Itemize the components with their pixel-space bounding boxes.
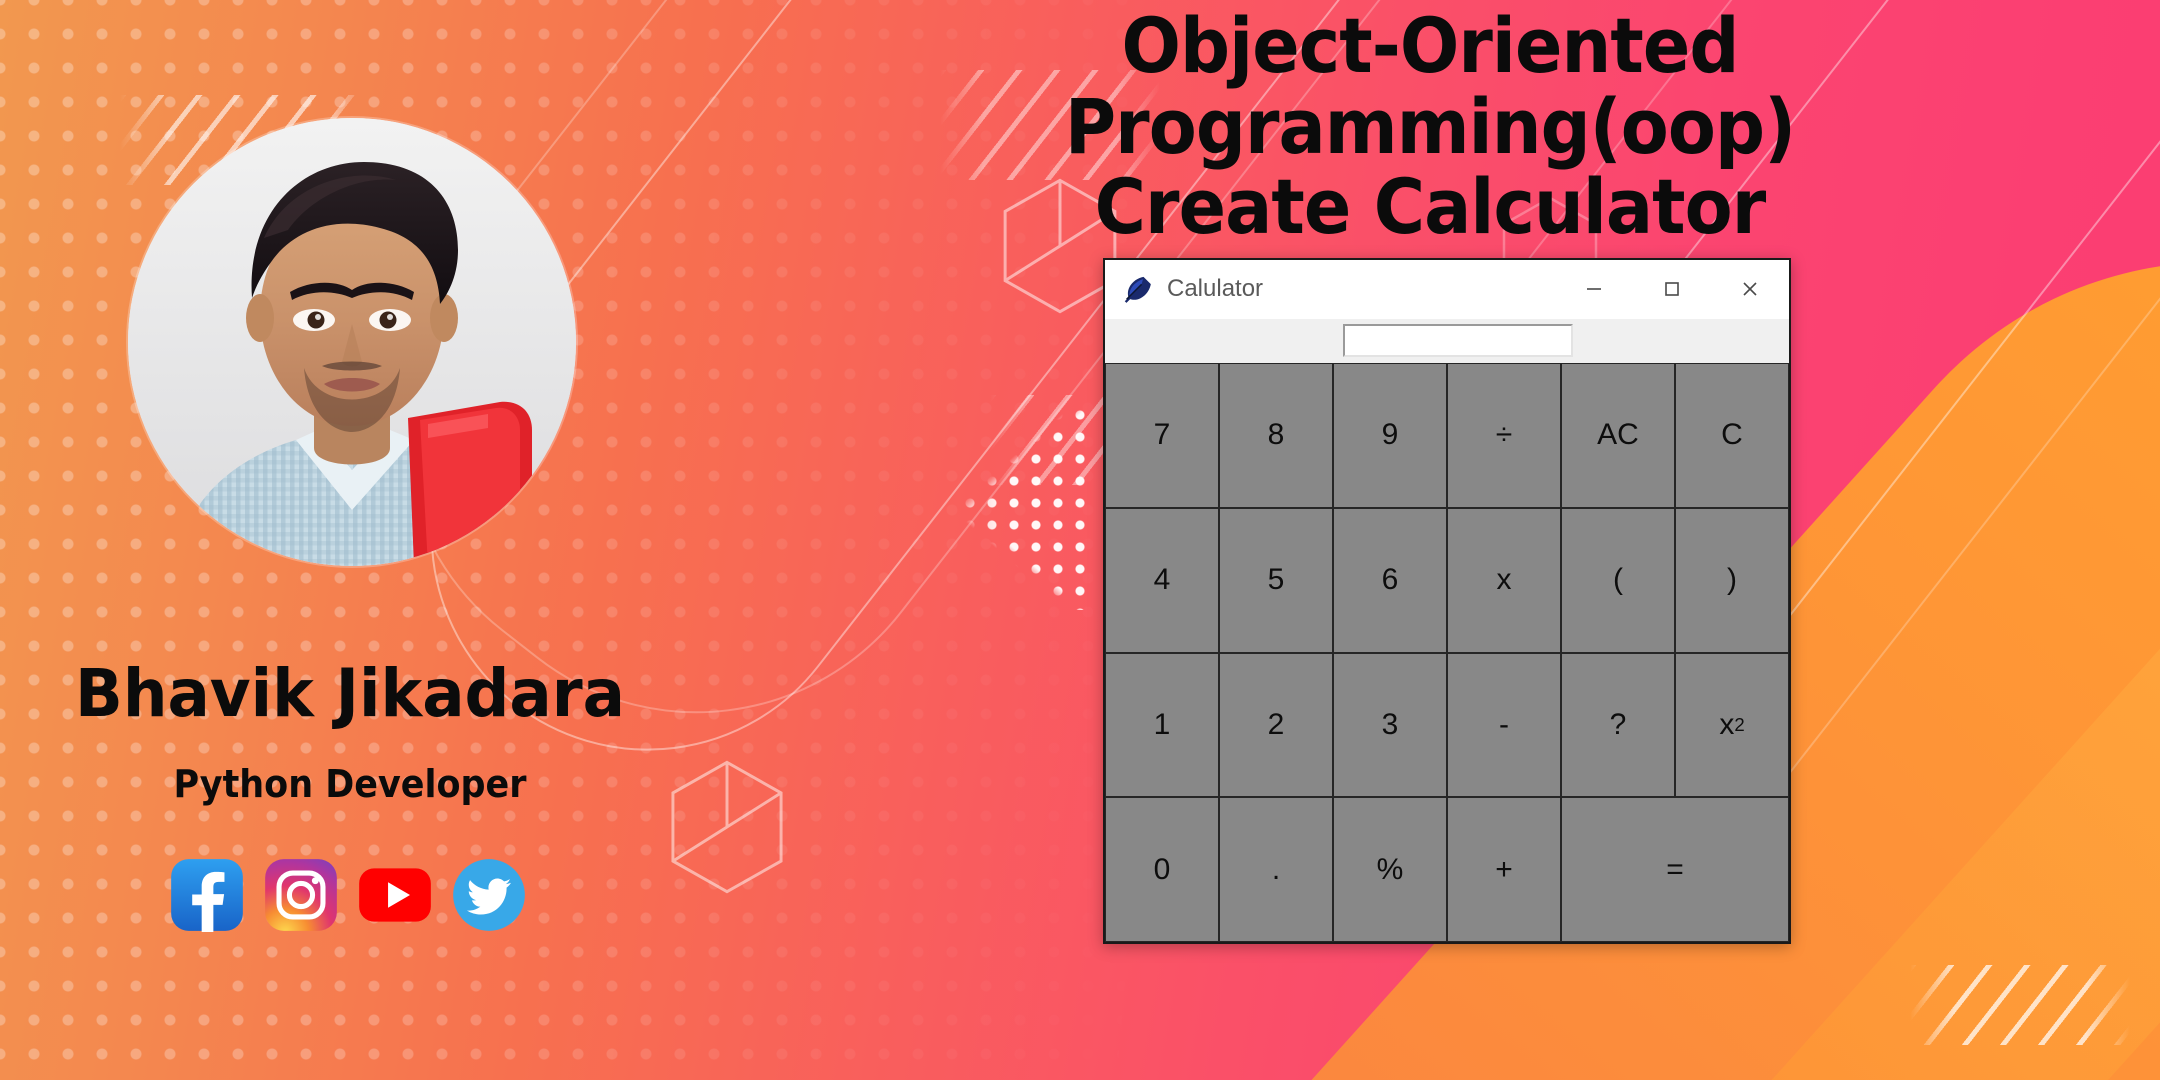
person-role: Python Developer bbox=[83, 762, 617, 806]
key-multiply[interactable]: x bbox=[1448, 509, 1560, 652]
person-name: Bhavik Jikadara bbox=[75, 655, 626, 732]
poster-canvas: Object-Oriented Programming(oop) Create … bbox=[0, 0, 2160, 1080]
key-0[interactable]: 0 bbox=[1106, 798, 1218, 941]
window-titlebar[interactable]: Calulator bbox=[1105, 260, 1789, 319]
minimize-icon bbox=[1582, 277, 1606, 301]
close-icon bbox=[1738, 277, 1762, 301]
key-equals[interactable]: = bbox=[1562, 798, 1788, 941]
instagram-icon[interactable] bbox=[264, 858, 338, 932]
key-subtract[interactable]: - bbox=[1448, 654, 1560, 797]
key-5[interactable]: 5 bbox=[1220, 509, 1332, 652]
key-1[interactable]: 1 bbox=[1106, 654, 1218, 797]
key-percent[interactable]: % bbox=[1334, 798, 1446, 941]
key-2[interactable]: 2 bbox=[1220, 654, 1332, 797]
key-clear[interactable]: C bbox=[1676, 364, 1788, 507]
minimize-button[interactable] bbox=[1555, 260, 1633, 318]
key-6[interactable]: 6 bbox=[1334, 509, 1446, 652]
key-close-paren[interactable]: ) bbox=[1676, 509, 1788, 652]
window-controls bbox=[1555, 260, 1789, 318]
twitter-icon[interactable] bbox=[452, 858, 526, 932]
avatar-photo bbox=[128, 118, 576, 566]
key-question[interactable]: ? bbox=[1562, 654, 1674, 797]
maximize-button[interactable] bbox=[1633, 260, 1711, 318]
key-9[interactable]: 9 bbox=[1334, 364, 1446, 507]
key-divide[interactable]: ÷ bbox=[1448, 364, 1560, 507]
orange-blob-secondary-decoration bbox=[1771, 412, 2160, 1080]
key-add[interactable]: + bbox=[1448, 798, 1560, 941]
key-square[interactable]: x2 bbox=[1676, 654, 1788, 797]
key-7[interactable]: 7 bbox=[1106, 364, 1218, 507]
close-button[interactable] bbox=[1711, 260, 1789, 318]
dotted-arrow-decoration bbox=[855, 410, 1085, 610]
window-title: Calulator bbox=[1167, 275, 1263, 303]
calculator-window[interactable]: Calulator bbox=[1103, 258, 1791, 944]
headline-line-2: Create Calculator bbox=[814, 167, 2047, 248]
slash-marks-decoration bbox=[1910, 965, 2130, 1045]
key-4[interactable]: 4 bbox=[1106, 509, 1218, 652]
key-open-paren[interactable]: ( bbox=[1562, 509, 1674, 652]
hexagon-cube-icon bbox=[668, 760, 786, 894]
maximize-icon bbox=[1660, 277, 1684, 301]
calculator-keypad[interactable]: 789÷ACC456x()123-?x20.%+= bbox=[1105, 363, 1789, 942]
key-all-clear[interactable]: AC bbox=[1562, 364, 1674, 507]
facebook-icon[interactable] bbox=[170, 858, 244, 932]
headline-line-1: Object-Oriented Programming(oop) bbox=[1065, 1, 1795, 171]
display-row bbox=[1105, 319, 1789, 363]
tk-feather-icon bbox=[1121, 274, 1151, 304]
key-decimal[interactable]: . bbox=[1220, 798, 1332, 941]
page-title: Object-Oriented Programming(oop) Create … bbox=[814, 6, 2047, 248]
key-3[interactable]: 3 bbox=[1334, 654, 1446, 797]
social-links bbox=[170, 858, 526, 932]
key-8[interactable]: 8 bbox=[1220, 364, 1332, 507]
youtube-icon[interactable] bbox=[358, 858, 432, 932]
avatar bbox=[128, 118, 576, 566]
calculator-display-input[interactable] bbox=[1343, 324, 1573, 357]
